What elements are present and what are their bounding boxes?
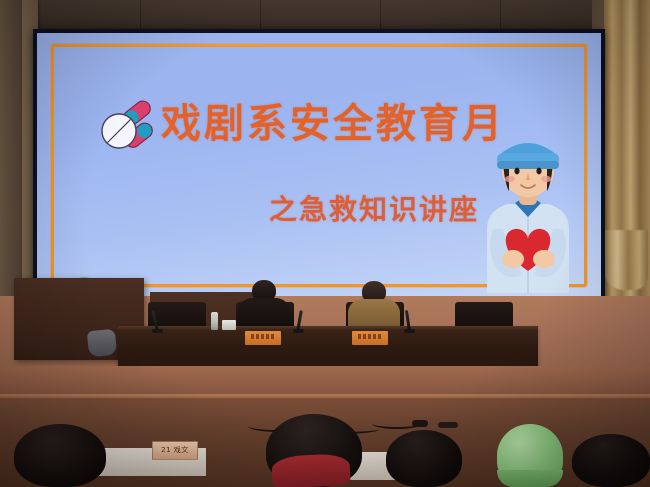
- audience-head: [386, 430, 462, 487]
- connector: [438, 422, 458, 428]
- desk-item: [222, 320, 236, 330]
- lecture-hall-photo: 戏剧系安全教育月 之急救知识讲座: [0, 0, 650, 487]
- red-scarf: [271, 453, 351, 487]
- name-placard: [245, 331, 281, 345]
- doctor-holding-heart-icon: [469, 125, 587, 293]
- connector: [412, 420, 428, 427]
- audience-head: [14, 424, 106, 487]
- slide-subtitle: 之急救知识讲座: [269, 188, 479, 228]
- microphone-base: [404, 329, 415, 333]
- audience-head: [572, 434, 650, 487]
- name-placard: [352, 331, 388, 345]
- green-beanie-band: [497, 470, 563, 487]
- projection-screen-bezel: 戏剧系安全教育月 之急救知识讲座: [33, 29, 605, 301]
- microphone-base: [293, 329, 304, 333]
- curtain-fold: [604, 230, 648, 290]
- slide-title: 戏剧系安全教育月: [161, 91, 505, 149]
- bag-on-floor: [87, 329, 118, 358]
- speaker-left: [236, 280, 292, 332]
- projection-screen: 戏剧系安全教育月 之急救知识讲座: [37, 33, 601, 297]
- microphone-base: [152, 329, 163, 333]
- water-bottle: [211, 312, 218, 330]
- desk-placard-left: 21 戏文: [152, 441, 198, 460]
- pills-icon: [97, 97, 159, 155]
